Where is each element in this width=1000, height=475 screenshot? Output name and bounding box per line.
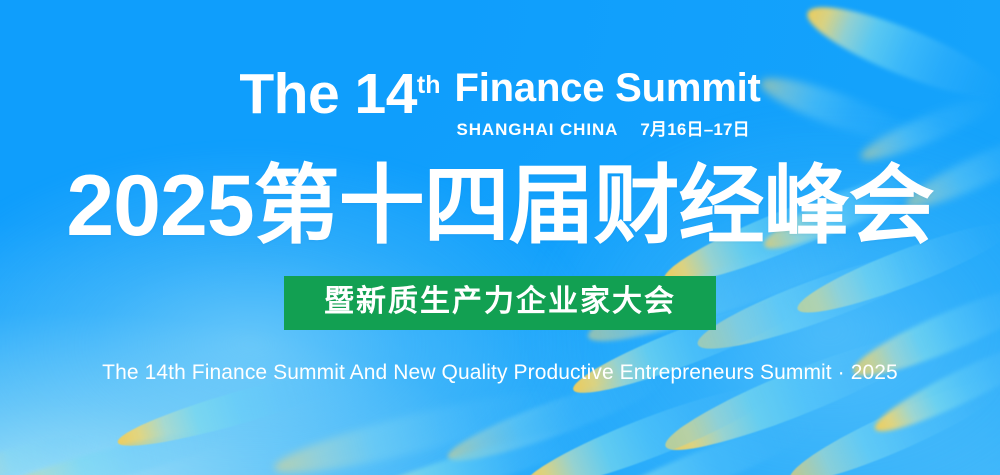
event-name: Finance Summit xyxy=(455,68,761,110)
summit-poster: The 14th Finance Summit SHANGHAI CHINA 7… xyxy=(0,0,1000,475)
english-subtitle: The 14th Finance Summit And New Quality … xyxy=(0,360,1000,385)
edition-title: The 14th xyxy=(239,66,440,123)
green-banner-text: 暨新质生产力企业家大会 xyxy=(324,287,676,317)
event-dates: 7月16日–17日 xyxy=(640,115,750,140)
green-banner: 暨新质生产力企业家大会 xyxy=(284,276,716,330)
header-meta: SHANGHAI CHINA 7月16日–17日 xyxy=(455,115,761,140)
main-title: 2025第十四届财经峰会 xyxy=(0,163,1000,249)
header-right-block: Finance Summit SHANGHAI CHINA 7月16日–17日 xyxy=(455,66,761,140)
header-inner: The 14th Finance Summit SHANGHAI CHINA 7… xyxy=(239,66,760,140)
poster-header: The 14th Finance Summit SHANGHAI CHINA 7… xyxy=(0,66,1000,140)
green-banner-row: 暨新质生产力企业家大会 xyxy=(0,276,1000,330)
event-city: SHANGHAI CHINA xyxy=(457,120,619,140)
edition-prefix: The 14 xyxy=(239,62,417,126)
edition-ordinal: th xyxy=(417,71,441,99)
